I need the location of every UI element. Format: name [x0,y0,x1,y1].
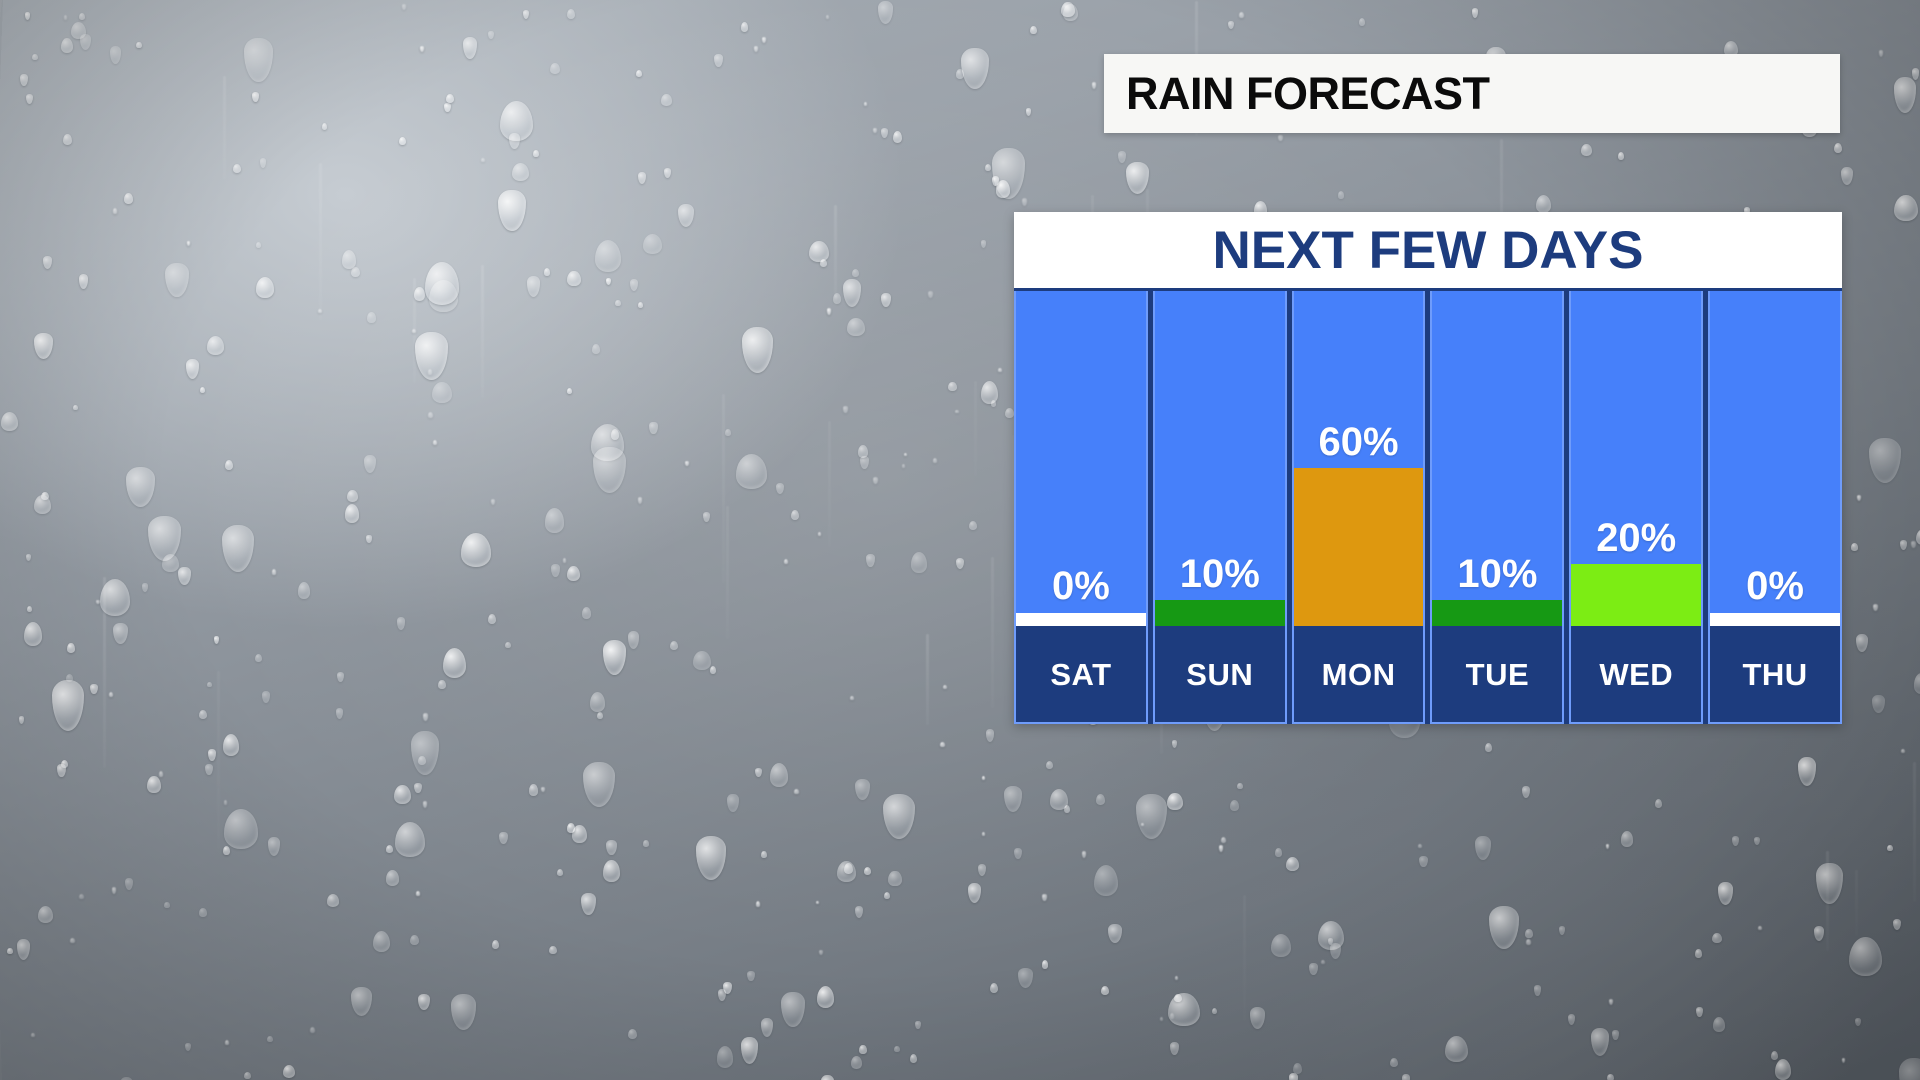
day-name: TUE [1466,659,1530,690]
rain-chance-bar [1016,613,1146,626]
rain-chance-label: 10% [1432,554,1562,594]
rain-chance-bar [1432,600,1562,626]
day-name: SUN [1186,659,1253,690]
rain-chance-bar [1710,613,1840,626]
day-label-footer: WED [1571,626,1701,722]
day-column-sun[interactable]: 10%SUN [1153,291,1287,724]
title-bar: RAIN FORECAST [1104,54,1840,133]
day-column-mon[interactable]: 60%MON [1292,291,1426,724]
rain-chance-label: 20% [1571,518,1701,558]
panel-header: NEXT FEW DAYS [1014,212,1842,288]
day-name: WED [1599,659,1673,690]
forecast-panel: NEXT FEW DAYS 0%SAT10%SUN60%MON10%TUE20%… [1014,212,1842,724]
rain-chance-label: 0% [1710,566,1840,606]
day-name: MON [1322,659,1396,690]
rain-chance-bar [1294,468,1424,626]
panel-header-title: NEXT FEW DAYS [1213,224,1644,277]
rain-chance-label: 10% [1155,554,1285,594]
day-label-footer: TUE [1432,626,1562,722]
page-title: RAIN FORECAST [1126,71,1490,116]
rain-chance-bar [1571,564,1701,626]
day-label-footer: SAT [1016,626,1146,722]
day-column-tue[interactable]: 10%TUE [1430,291,1564,724]
day-column-sat[interactable]: 0%SAT [1014,291,1148,724]
day-name: THU [1742,659,1807,690]
day-label-footer: THU [1710,626,1840,722]
rain-chance-label: 60% [1294,422,1424,462]
day-label-footer: MON [1294,626,1424,722]
day-label-footer: SUN [1155,626,1285,722]
rain-chance-bar [1155,600,1285,626]
rain-chance-label: 0% [1016,566,1146,606]
day-name: SAT [1050,659,1111,690]
day-column-wed[interactable]: 20%WED [1569,291,1703,724]
weather-graphic-stage: RAIN FORECAST NEXT FEW DAYS 0%SAT10%SUN6… [0,0,1920,1080]
day-column-thu[interactable]: 0%THU [1708,291,1842,724]
forecast-columns: 0%SAT10%SUN60%MON10%TUE20%WED0%THU [1014,288,1842,724]
